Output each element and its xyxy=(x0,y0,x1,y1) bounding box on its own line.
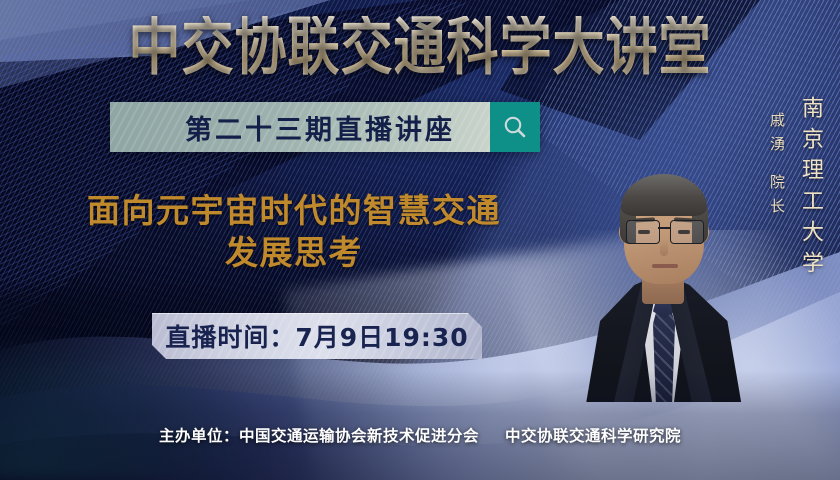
footer-organizer-1: 中国交通运输协会新技术促进分会 xyxy=(239,427,479,445)
portrait-mouth xyxy=(652,264,678,268)
search-icon xyxy=(502,114,528,140)
footer-organizers: 主办单位：中国交通运输协会新技术促进分会中交协联交通科学研究院 xyxy=(0,424,840,446)
glasses-bridge xyxy=(658,227,670,229)
search-button[interactable] xyxy=(490,102,540,152)
glasses-lens-right xyxy=(670,220,704,244)
page-title: 中交协联交通科学大讲堂 xyxy=(0,16,840,79)
lecture-topic-line-1: 面向元宇宙时代的智慧交通 xyxy=(34,190,554,232)
lecture-topic-line-2: 发展思考 xyxy=(34,232,554,274)
lecture-topic: 面向元宇宙时代的智慧交通 发展思考 xyxy=(34,190,554,274)
speaker-name-title: 戚湧 院长 xyxy=(767,112,788,222)
live-stream-poster: 中交协联交通科学大讲堂 第二十三期直播讲座 面向元宇宙时代的智慧交通 发展思考 … xyxy=(0,0,840,480)
episode-banner: 第二十三期直播讲座 xyxy=(110,102,540,152)
episode-label: 第二十三期直播讲座 xyxy=(145,108,455,147)
footer-organizer-2: 中交协联交通科学研究院 xyxy=(505,427,681,445)
speaker-portrait xyxy=(576,84,748,402)
glasses-lens-left xyxy=(626,220,660,244)
portrait-nose xyxy=(660,240,668,256)
episode-banner-body: 第二十三期直播讲座 xyxy=(110,102,490,152)
speaker-organization: 南京理工大学 xyxy=(794,96,826,282)
live-time-badge: 直播时间：7月9日19:30 xyxy=(152,313,482,359)
footer-prefix: 主办单位： xyxy=(159,427,239,445)
